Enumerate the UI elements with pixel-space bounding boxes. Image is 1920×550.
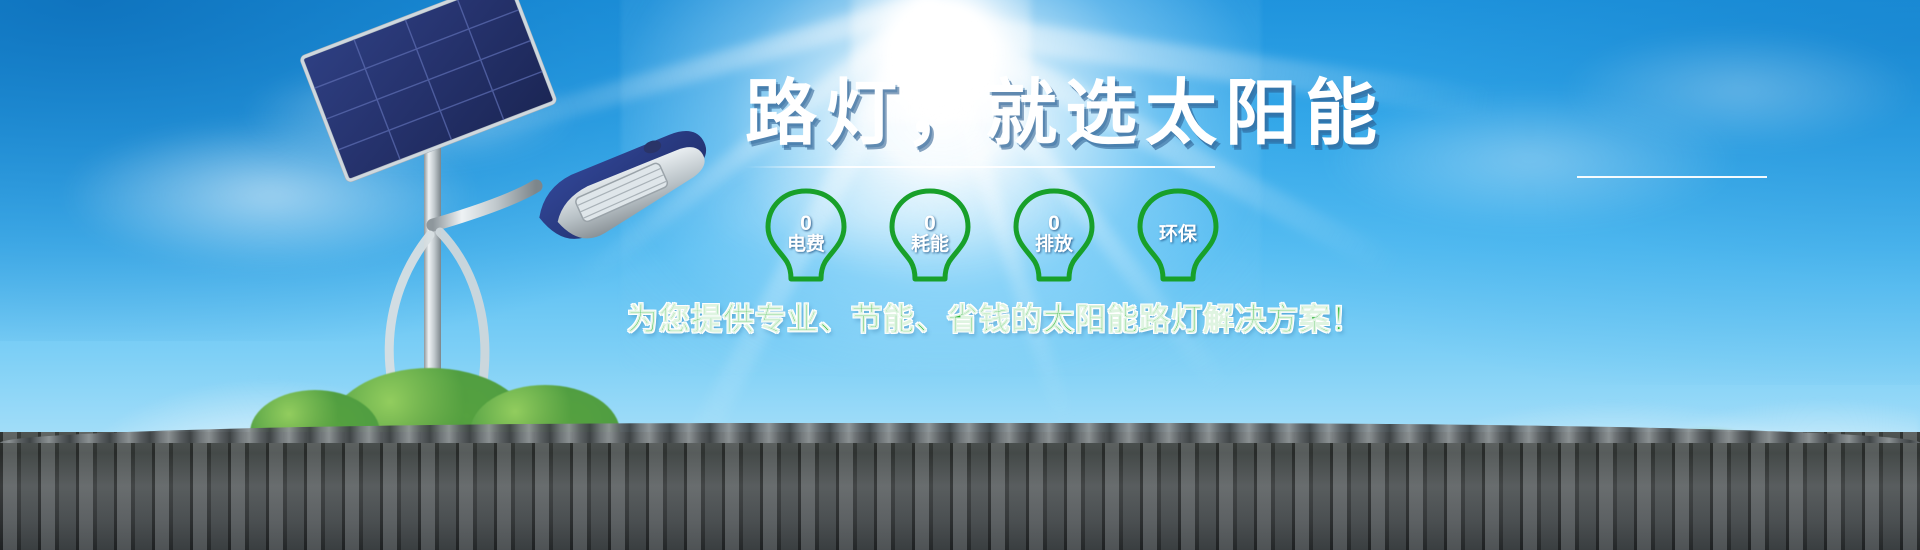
badge-label: 耗能 xyxy=(911,235,949,255)
solar-street-lamp-banner: 路灯，就选太阳能 0 电费 0 耗能 xyxy=(0,0,1920,550)
badge-label: 环保 xyxy=(1159,225,1197,245)
banner-subtitle: 为您提供专业、节能、省钱的太阳能路灯解决方案！ xyxy=(627,294,1363,339)
badge-label: 电费 xyxy=(787,235,825,255)
feature-badge-list: 0 电费 0 耗能 0 排放 xyxy=(763,186,1221,282)
feature-badge: 0 耗能 xyxy=(887,186,973,282)
title-divider xyxy=(745,166,1215,168)
badge-zero-value: 0 xyxy=(924,213,936,234)
title-divider-short xyxy=(1577,176,1767,178)
feature-badge: 环保 xyxy=(1135,186,1221,282)
badge-label: 排放 xyxy=(1035,235,1073,255)
feature-badge: 0 电费 xyxy=(763,186,849,282)
badge-zero-value: 0 xyxy=(800,213,812,234)
tiled-wall-icon xyxy=(0,432,1920,550)
feature-badge: 0 排放 xyxy=(1011,186,1097,282)
badge-zero-value: 0 xyxy=(1048,213,1060,234)
banner-text-block: 路灯，就选太阳能 0 电费 0 耗能 xyxy=(745,78,1745,338)
page-title: 路灯，就选太阳能 xyxy=(745,78,1745,150)
